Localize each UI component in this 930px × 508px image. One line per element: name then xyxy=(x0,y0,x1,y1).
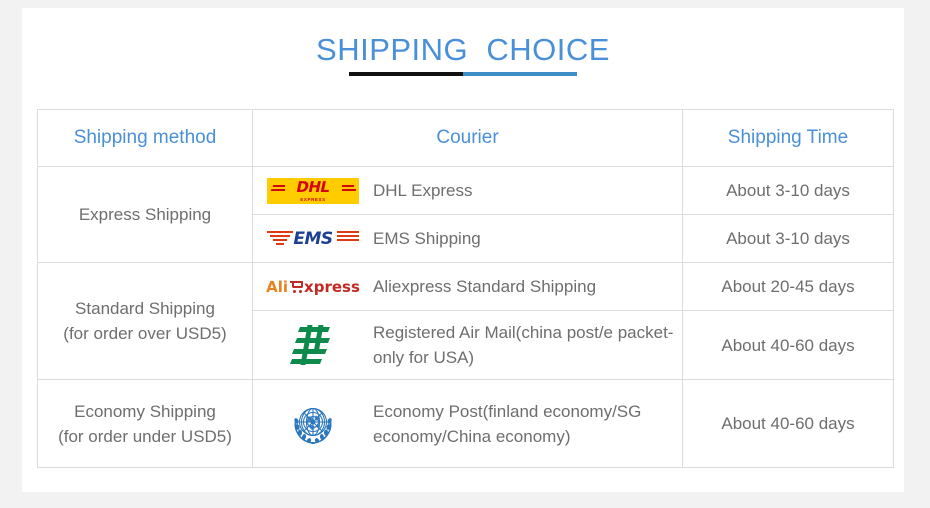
method-label: Standard Shipping xyxy=(38,296,252,321)
courier-label: Aliexpress Standard Shipping xyxy=(373,274,604,299)
title-block: SHIPPING CHOICE xyxy=(22,32,904,68)
china-post-logo xyxy=(290,322,336,368)
dhl-logo-subtext: EXPRESS xyxy=(300,197,325,203)
aliexpress-logo-subtext: xpress xyxy=(304,278,360,296)
courier-label: EMS Shipping xyxy=(373,226,489,251)
shipping-table: Shipping method Courier Shipping Time Ex… xyxy=(37,109,894,468)
method-express-shipping: Express Shipping xyxy=(38,167,253,263)
logo-slot: Ali xpress xyxy=(253,275,373,299)
page-title: SHIPPING CHOICE xyxy=(22,32,904,68)
header-shipping-time: Shipping Time xyxy=(683,110,894,167)
shopping-cart-icon xyxy=(289,280,304,293)
table-header-row: Shipping method Courier Shipping Time xyxy=(38,110,894,167)
method-economy-shipping: Economy Shipping (for order under USD5) xyxy=(38,380,253,468)
table-header: Shipping method Courier Shipping Time xyxy=(38,110,894,167)
dhl-logo-text: DHL xyxy=(295,179,331,195)
method-note: (for order over USD5) xyxy=(38,321,252,346)
courier-label: DHL Express xyxy=(373,178,481,203)
courier-label: Registered Air Mail(china post/e packet-… xyxy=(373,320,682,370)
shipping-choice-card: SHIPPING CHOICE Shipping method Courier … xyxy=(22,8,904,492)
table-body: Express Shipping DHL xyxy=(38,167,894,468)
table-row: Express Shipping DHL xyxy=(38,167,894,215)
un-logo xyxy=(288,399,338,449)
dhl-logo: DHL EXPRESS xyxy=(267,178,359,204)
method-note: (for order under USD5) xyxy=(38,424,252,449)
ems-logo: EMS xyxy=(266,226,360,252)
courier-cell-china-post: Registered Air Mail(china post/e packet-… xyxy=(253,311,683,380)
table-row: Standard Shipping (for order over USD5) … xyxy=(38,263,894,311)
time-cell: About 40-60 days xyxy=(683,380,894,468)
aliexpress-logo: Ali xpress xyxy=(261,275,365,299)
method-label: Express Shipping xyxy=(38,202,252,227)
time-cell: About 3-10 days xyxy=(683,215,894,263)
title-underline xyxy=(349,72,577,76)
courier-cell-ems: EMS EMS Shipping xyxy=(253,215,683,263)
header-courier: Courier xyxy=(253,110,683,167)
logo-slot: DHL EXPRESS xyxy=(253,178,373,204)
title-underline-dark xyxy=(349,72,463,76)
page-root: SHIPPING CHOICE Shipping method Courier … xyxy=(0,0,930,508)
ems-logo-text: EMS xyxy=(293,230,332,248)
time-cell: About 20-45 days xyxy=(683,263,894,311)
method-label: Economy Shipping xyxy=(38,399,252,424)
time-cell: About 3-10 days xyxy=(683,167,894,215)
logo-slot xyxy=(253,399,373,449)
method-standard-shipping: Standard Shipping (for order over USD5) xyxy=(38,263,253,380)
time-cell: About 40-60 days xyxy=(683,311,894,380)
courier-cell-dhl: DHL EXPRESS DHL Express xyxy=(253,167,683,215)
courier-label: Economy Post(finland economy/SG economy/… xyxy=(373,399,682,449)
logo-slot xyxy=(253,322,373,368)
header-shipping-method: Shipping method xyxy=(38,110,253,167)
aliexpress-logo-text: Ali xyxy=(266,278,288,296)
title-underline-blue xyxy=(463,72,577,76)
table-row: Economy Shipping (for order under USD5) xyxy=(38,380,894,468)
logo-slot: EMS xyxy=(253,226,373,252)
courier-cell-aliexpress: Ali xpress Ali xyxy=(253,263,683,311)
courier-cell-economy-post: Economy Post(finland economy/SG economy/… xyxy=(253,380,683,468)
